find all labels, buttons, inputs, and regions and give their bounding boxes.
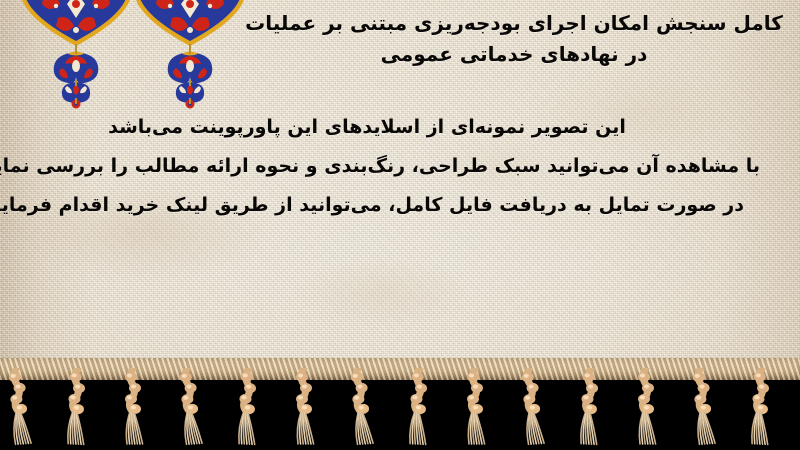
slide-title: کامل سنجش امکان اجرای بودجه‌ریزی مبتنی ب… — [236, 8, 792, 70]
slide-title-line-2: نهادهای خدماتی عمومی — [381, 42, 619, 66]
slide-body-line-2: با مشاهده آن می‌توانید سبک طراحی، رنگ‌بن… — [22, 147, 778, 186]
slide-canvas: کامل سنجش امکان اجرای بودجه‌ریزی مبتنی ب… — [0, 0, 800, 450]
slide-body-line-3: در صورت تمایل به دریافت فایل کامل، می‌تو… — [22, 186, 778, 225]
slide-body-line-1: این تصویر نمونه‌ای از اسلایدهای این پاور… — [22, 108, 778, 147]
slide-text-layer: کامل سنجش امکان اجرای بودجه‌ریزی مبتنی ب… — [0, 0, 800, 450]
slide-body: این تصویر نمونه‌ای از اسلایدهای این پاور… — [22, 108, 778, 225]
